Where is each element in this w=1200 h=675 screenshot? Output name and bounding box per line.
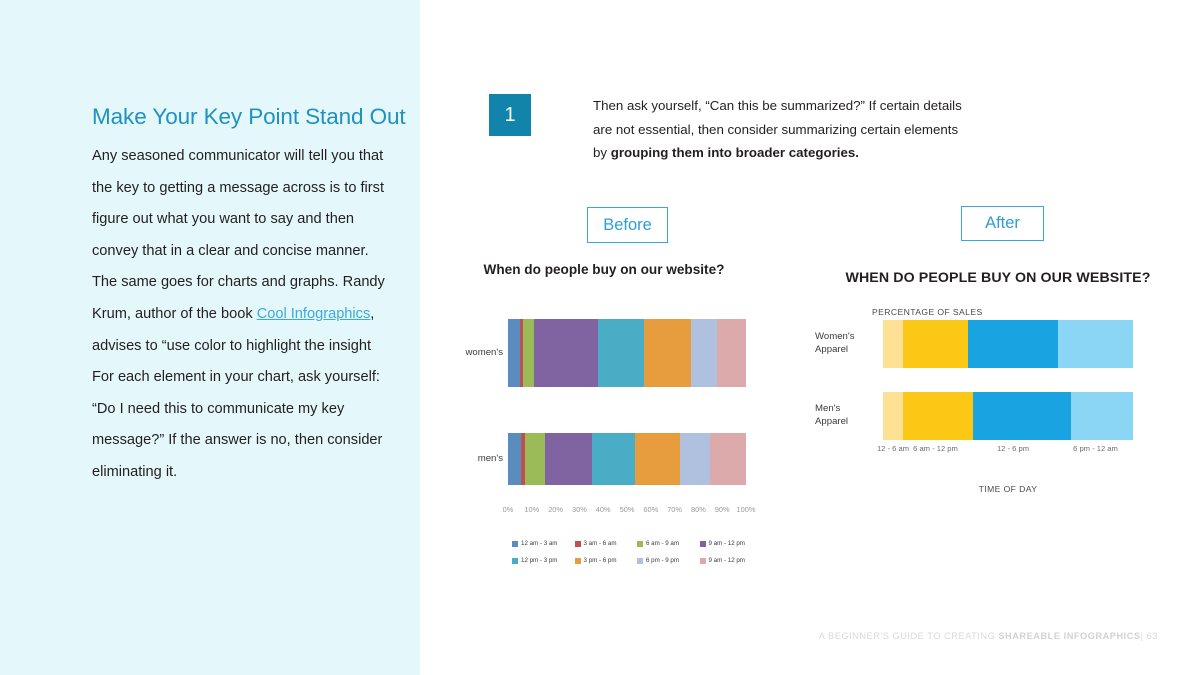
after-chart: WHEN DO PEOPLE BUY ON OUR WEBSITE? PERCE… — [815, 262, 1155, 512]
after-chart-x-tick: 6 pm - 12 am — [1073, 444, 1118, 453]
before-chart-legend-label: 9 am - 12 pm — [709, 540, 745, 547]
legend-swatch-icon — [700, 541, 706, 547]
before-chart-x-tick: 0% — [503, 505, 514, 514]
after-chart-bar-segment — [1071, 392, 1134, 440]
legend-swatch-icon — [637, 541, 643, 547]
after-chart-y-axis-label: PERCENTAGE OF SALES — [872, 307, 983, 317]
before-chart-bar-segment — [523, 319, 534, 387]
before-chart-title: When do people buy on our website? — [449, 262, 759, 277]
after-chart-bar — [883, 392, 1133, 440]
before-chart-bar-segment — [534, 319, 598, 387]
before-chart-x-tick: 30% — [572, 505, 587, 514]
before-chart-x-tick: 100% — [737, 505, 756, 514]
before-chart-bar-segment — [710, 433, 746, 485]
callout-text: Then ask yourself, “Can this be summariz… — [593, 94, 968, 165]
before-chart-legend-label: 12 pm - 3 pm — [521, 557, 557, 564]
before-chart-bar-segment — [644, 319, 691, 387]
before-badge: Before — [587, 207, 668, 243]
before-chart-bar-segment — [598, 319, 643, 387]
after-chart-bar-segment — [903, 320, 968, 368]
before-chart-legend-item: 9 am - 12 pm — [700, 540, 763, 547]
before-chart-legend-item: 6 am - 9 am — [637, 540, 700, 547]
before-chart-x-tick: 60% — [643, 505, 658, 514]
before-chart-legend-item: 9 am - 12 pm — [700, 557, 763, 564]
legend-swatch-icon — [575, 541, 581, 547]
callout-number-badge: 1 — [489, 94, 531, 136]
before-chart-bar — [508, 319, 746, 387]
legend-swatch-icon — [512, 558, 518, 564]
before-chart-bar-segment — [592, 433, 635, 485]
footer-text-bold: SHAREABLE INFOGRAPHICS — [998, 631, 1140, 641]
before-chart-legend-label: 3 am - 6 am — [584, 540, 617, 547]
before-chart-x-tick: 70% — [667, 505, 682, 514]
footer-page-number: | 63 — [1141, 631, 1158, 641]
before-chart-bar-segment — [717, 319, 746, 387]
after-chart-x-ticks: 12 - 6 am6 am - 12 pm12 - 6 pm6 pm - 12 … — [883, 444, 1133, 456]
after-chart-x-axis-label: TIME OF DAY — [883, 484, 1133, 494]
after-chart-bar-segment — [903, 392, 973, 440]
before-chart-legend-item: 3 pm - 6 pm — [575, 557, 638, 564]
before-chart-legend-item: 12 am - 3 am — [512, 540, 575, 547]
after-chart-bar-segment — [1058, 320, 1133, 368]
legend-swatch-icon — [637, 558, 643, 564]
article-paragraph-2: The same goes for charts and graphs. Ran… — [92, 267, 392, 488]
before-chart-bar-segment — [635, 433, 680, 485]
before-chart-x-tick: 80% — [691, 505, 706, 514]
before-chart-legend: 12 am - 3 am3 am - 6 am6 am - 9 am9 am -… — [512, 540, 762, 564]
before-chart-row-label: men's — [449, 453, 503, 464]
before-chart-bar — [508, 433, 746, 485]
before-chart-legend-label: 3 pm - 6 pm — [584, 557, 617, 564]
after-chart-bar-segment — [973, 392, 1071, 440]
article-paragraph-1: Any seasoned communicator will tell you … — [92, 141, 392, 267]
after-chart-title: WHEN DO PEOPLE BUY ON OUR WEBSITE? — [815, 270, 1181, 286]
before-chart-legend-item: 3 am - 6 am — [575, 540, 638, 547]
before-chart-x-tick: 10% — [524, 505, 539, 514]
after-chart-row-label: Women'sApparel — [815, 330, 877, 356]
before-chart-x-tick: 20% — [548, 505, 563, 514]
before-chart: When do people buy on our website? 0%10%… — [449, 262, 759, 582]
before-chart-bar-segment — [508, 319, 520, 387]
after-chart-bar — [883, 320, 1133, 368]
after-chart-x-tick: 12 - 6 pm — [997, 444, 1029, 453]
cool-infographics-link[interactable]: Cool Infographics — [257, 306, 371, 322]
after-chart-bar-segment — [883, 392, 903, 440]
before-chart-legend-label: 6 am - 9 am — [646, 540, 679, 547]
before-chart-legend-label: 6 pm - 9 pm — [646, 557, 679, 564]
before-chart-plot — [508, 303, 746, 501]
before-chart-x-tick: 90% — [715, 505, 730, 514]
before-chart-legend-label: 12 am - 3 am — [521, 540, 557, 547]
after-chart-x-tick: 6 am - 12 pm — [913, 444, 958, 453]
article-body: Any seasoned communicator will tell you … — [92, 141, 392, 489]
before-chart-bar-segment — [525, 433, 545, 485]
page-footer: A BEGINNER'S GUIDE TO CREATING SHAREABLE… — [819, 631, 1158, 641]
page-title: Make Your Key Point Stand Out — [92, 103, 412, 130]
before-chart-legend-item: 6 pm - 9 pm — [637, 557, 700, 564]
before-chart-band — [508, 387, 746, 433]
before-chart-legend-item: 12 pm - 3 pm — [512, 557, 575, 564]
after-chart-x-tick: 12 - 6 am — [877, 444, 909, 453]
before-chart-x-tick: 40% — [596, 505, 611, 514]
after-chart-bar-segment — [883, 320, 903, 368]
after-chart-row-label: Men'sApparel — [815, 402, 877, 428]
before-chart-x-axis: 0%10%20%30%40%50%60%70%80%90%100% — [499, 505, 755, 517]
before-chart-bar-segment — [680, 433, 710, 485]
legend-swatch-icon — [512, 541, 518, 547]
before-chart-bar-segment — [508, 433, 521, 485]
before-chart-bar-segment — [691, 319, 717, 387]
legend-swatch-icon — [700, 558, 706, 564]
legend-swatch-icon — [575, 558, 581, 564]
before-chart-legend-label: 9 am - 12 pm — [709, 557, 745, 564]
before-chart-bar-segment — [545, 433, 592, 485]
after-badge: After — [961, 206, 1044, 241]
callout-text-emphasis: grouping them into broader categories. — [611, 145, 859, 160]
before-chart-x-tick: 50% — [620, 505, 635, 514]
after-chart-bar-segment — [968, 320, 1058, 368]
footer-text: A BEGINNER'S GUIDE TO CREATING — [819, 631, 999, 641]
before-chart-row-label: women's — [449, 347, 503, 358]
before-chart-band — [508, 303, 746, 319]
before-chart-band — [508, 485, 746, 501]
numbered-callout: 1 Then ask yourself, “Can this be summar… — [489, 94, 968, 165]
paragraph-2-tail: , advises to “use color to highlight the… — [92, 306, 382, 480]
